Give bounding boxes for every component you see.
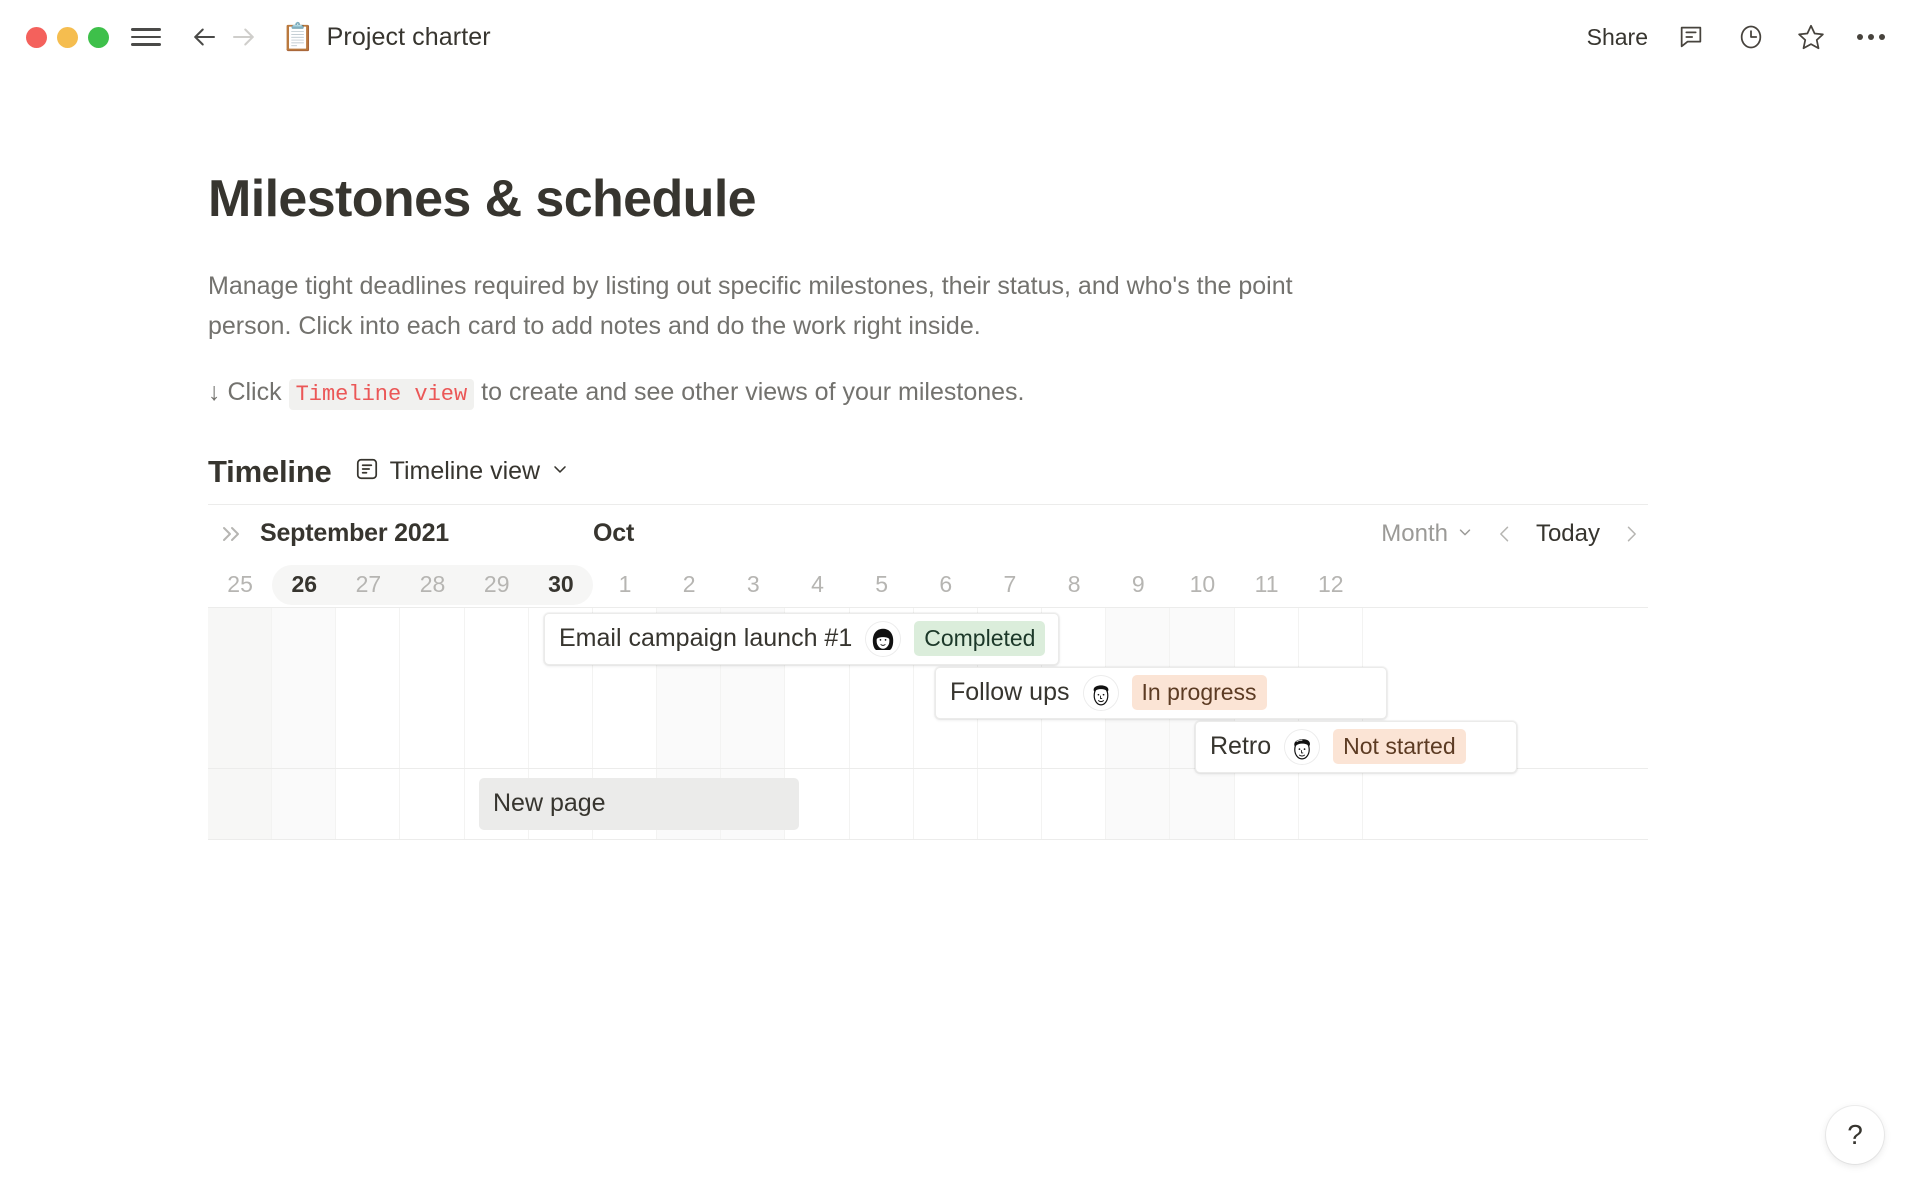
timeline-day-4[interactable]: 4: [785, 563, 849, 607]
timeline-day-28[interactable]: 28: [400, 563, 464, 607]
timeline-view-icon: [354, 456, 380, 487]
timeline-bar[interactable]: Follow ups In progress: [935, 667, 1387, 719]
timeline-bar-title: Retro: [1210, 732, 1271, 761]
breadcrumb-doc-title[interactable]: Project charter: [327, 23, 491, 52]
forward-arrow-icon[interactable]: [227, 20, 261, 54]
history-clock-icon[interactable]: [1734, 20, 1768, 54]
timeline-prev-button[interactable]: [1492, 519, 1518, 549]
tab-timeline-view-label: Timeline view: [390, 457, 541, 486]
timeline-column-28: [400, 608, 464, 839]
window-controls: [26, 27, 109, 48]
callout-prefix: ↓ Click: [208, 378, 289, 406]
timeline-day-2[interactable]: 2: [657, 563, 721, 607]
timeline-bottom-divider: [208, 839, 1648, 840]
timeline-new-page-bar[interactable]: New page: [479, 778, 799, 830]
titlebar-actions: Share: [1587, 20, 1888, 54]
page-title: Milestones & schedule: [208, 170, 1648, 230]
status-badge: Completed: [914, 621, 1045, 656]
timeline-day-11[interactable]: 11: [1235, 563, 1299, 607]
comment-icon[interactable]: [1674, 20, 1708, 54]
section-heading: Timeline: [208, 454, 332, 490]
timeline-scale-label: Month: [1381, 520, 1448, 548]
chevron-down-icon: [1456, 520, 1474, 548]
timeline-bar[interactable]: Email campaign launch #1 Completed: [544, 613, 1059, 665]
page-description: Manage tight deadlines required by listi…: [208, 266, 1328, 346]
timeline-day-header: 252627282930123456789101112: [208, 563, 1648, 607]
timeline-column-9: [1106, 608, 1170, 839]
maximize-window-button[interactable]: [88, 27, 109, 48]
callout-suffix: to create and see other views of your mi…: [474, 378, 1024, 406]
timeline-column-26: [272, 608, 336, 839]
expand-chevrons-icon[interactable]: [218, 523, 252, 545]
page-body: Milestones & schedule Manage tight deadl…: [0, 170, 1920, 840]
timeline-day-5[interactable]: 5: [850, 563, 914, 607]
timeline-day-3[interactable]: 3: [721, 563, 785, 607]
clipboard-icon: 📋: [281, 24, 315, 51]
timeline-scale-select[interactable]: Month: [1381, 520, 1474, 548]
avatar-man-wavy-hair: [1285, 730, 1319, 764]
timeline-day-6[interactable]: 6: [914, 563, 978, 607]
share-button[interactable]: Share: [1587, 24, 1648, 51]
timeline-day-7[interactable]: 7: [978, 563, 1042, 607]
timeline-month-label: September 2021: [260, 519, 449, 548]
more-options-icon[interactable]: [1854, 20, 1888, 54]
app-window: 📋 Project charter Share: [0, 0, 1920, 1200]
timeline-section-header: Timeline Timeline view: [208, 454, 1648, 490]
back-arrow-icon[interactable]: [187, 20, 221, 54]
title-bar: 📋 Project charter Share: [0, 0, 1920, 74]
timeline-column-25: [208, 608, 272, 839]
timeline-day-30[interactable]: 30: [529, 563, 593, 607]
avatar-woman-dark-hair: [866, 622, 900, 656]
status-badge: In progress: [1132, 675, 1267, 710]
timeline-month-label-secondary: Oct: [593, 519, 634, 548]
minimize-window-button[interactable]: [57, 27, 78, 48]
timeline-day-row: 252627282930123456789101112: [208, 563, 1648, 607]
star-icon[interactable]: [1794, 20, 1828, 54]
timeline-toolbar: September 2021 Oct Month: [208, 505, 1648, 563]
timeline-day-25[interactable]: 25: [208, 563, 272, 607]
timeline-day-10[interactable]: 10: [1170, 563, 1234, 607]
timeline-day-8[interactable]: 8: [1042, 563, 1106, 607]
timeline-widget: September 2021 Oct Month: [208, 504, 1648, 840]
sidebar-toggle-icon[interactable]: [131, 28, 161, 46]
callout-code-chip: Timeline view: [289, 379, 475, 410]
callout-text: ↓ Click Timeline view to create and see …: [208, 372, 1648, 412]
timeline-day-9[interactable]: 9: [1106, 563, 1170, 607]
timeline-day-12[interactable]: 12: [1299, 563, 1363, 607]
timeline-bar-title: Email campaign launch #1: [559, 624, 852, 653]
close-window-button[interactable]: [26, 27, 47, 48]
timeline-bar-title: Follow ups: [950, 678, 1070, 707]
timeline-column-27: [336, 608, 400, 839]
timeline-new-page-label: New page: [493, 789, 606, 818]
timeline-day-29[interactable]: 29: [465, 563, 529, 607]
help-button[interactable]: ?: [1826, 1106, 1884, 1164]
timeline-day-27[interactable]: 27: [336, 563, 400, 607]
timeline-toolbar-right: Month Today: [1381, 519, 1648, 549]
chevron-down-icon: [550, 459, 570, 484]
timeline-day-26[interactable]: 26: [272, 563, 336, 607]
avatar-man-short-hair: [1084, 676, 1118, 710]
timeline-bar[interactable]: Retro Not started: [1195, 721, 1517, 773]
timeline-day-1[interactable]: 1: [593, 563, 657, 607]
timeline-today-button[interactable]: Today: [1536, 520, 1600, 548]
status-badge: Not started: [1333, 729, 1466, 764]
tab-timeline-view[interactable]: Timeline view: [354, 456, 571, 487]
timeline-next-button[interactable]: [1618, 519, 1644, 549]
timeline-grid: Email campaign launch #1 CompletedFollow…: [208, 607, 1648, 839]
content-column: Milestones & schedule Manage tight deadl…: [208, 170, 1648, 840]
